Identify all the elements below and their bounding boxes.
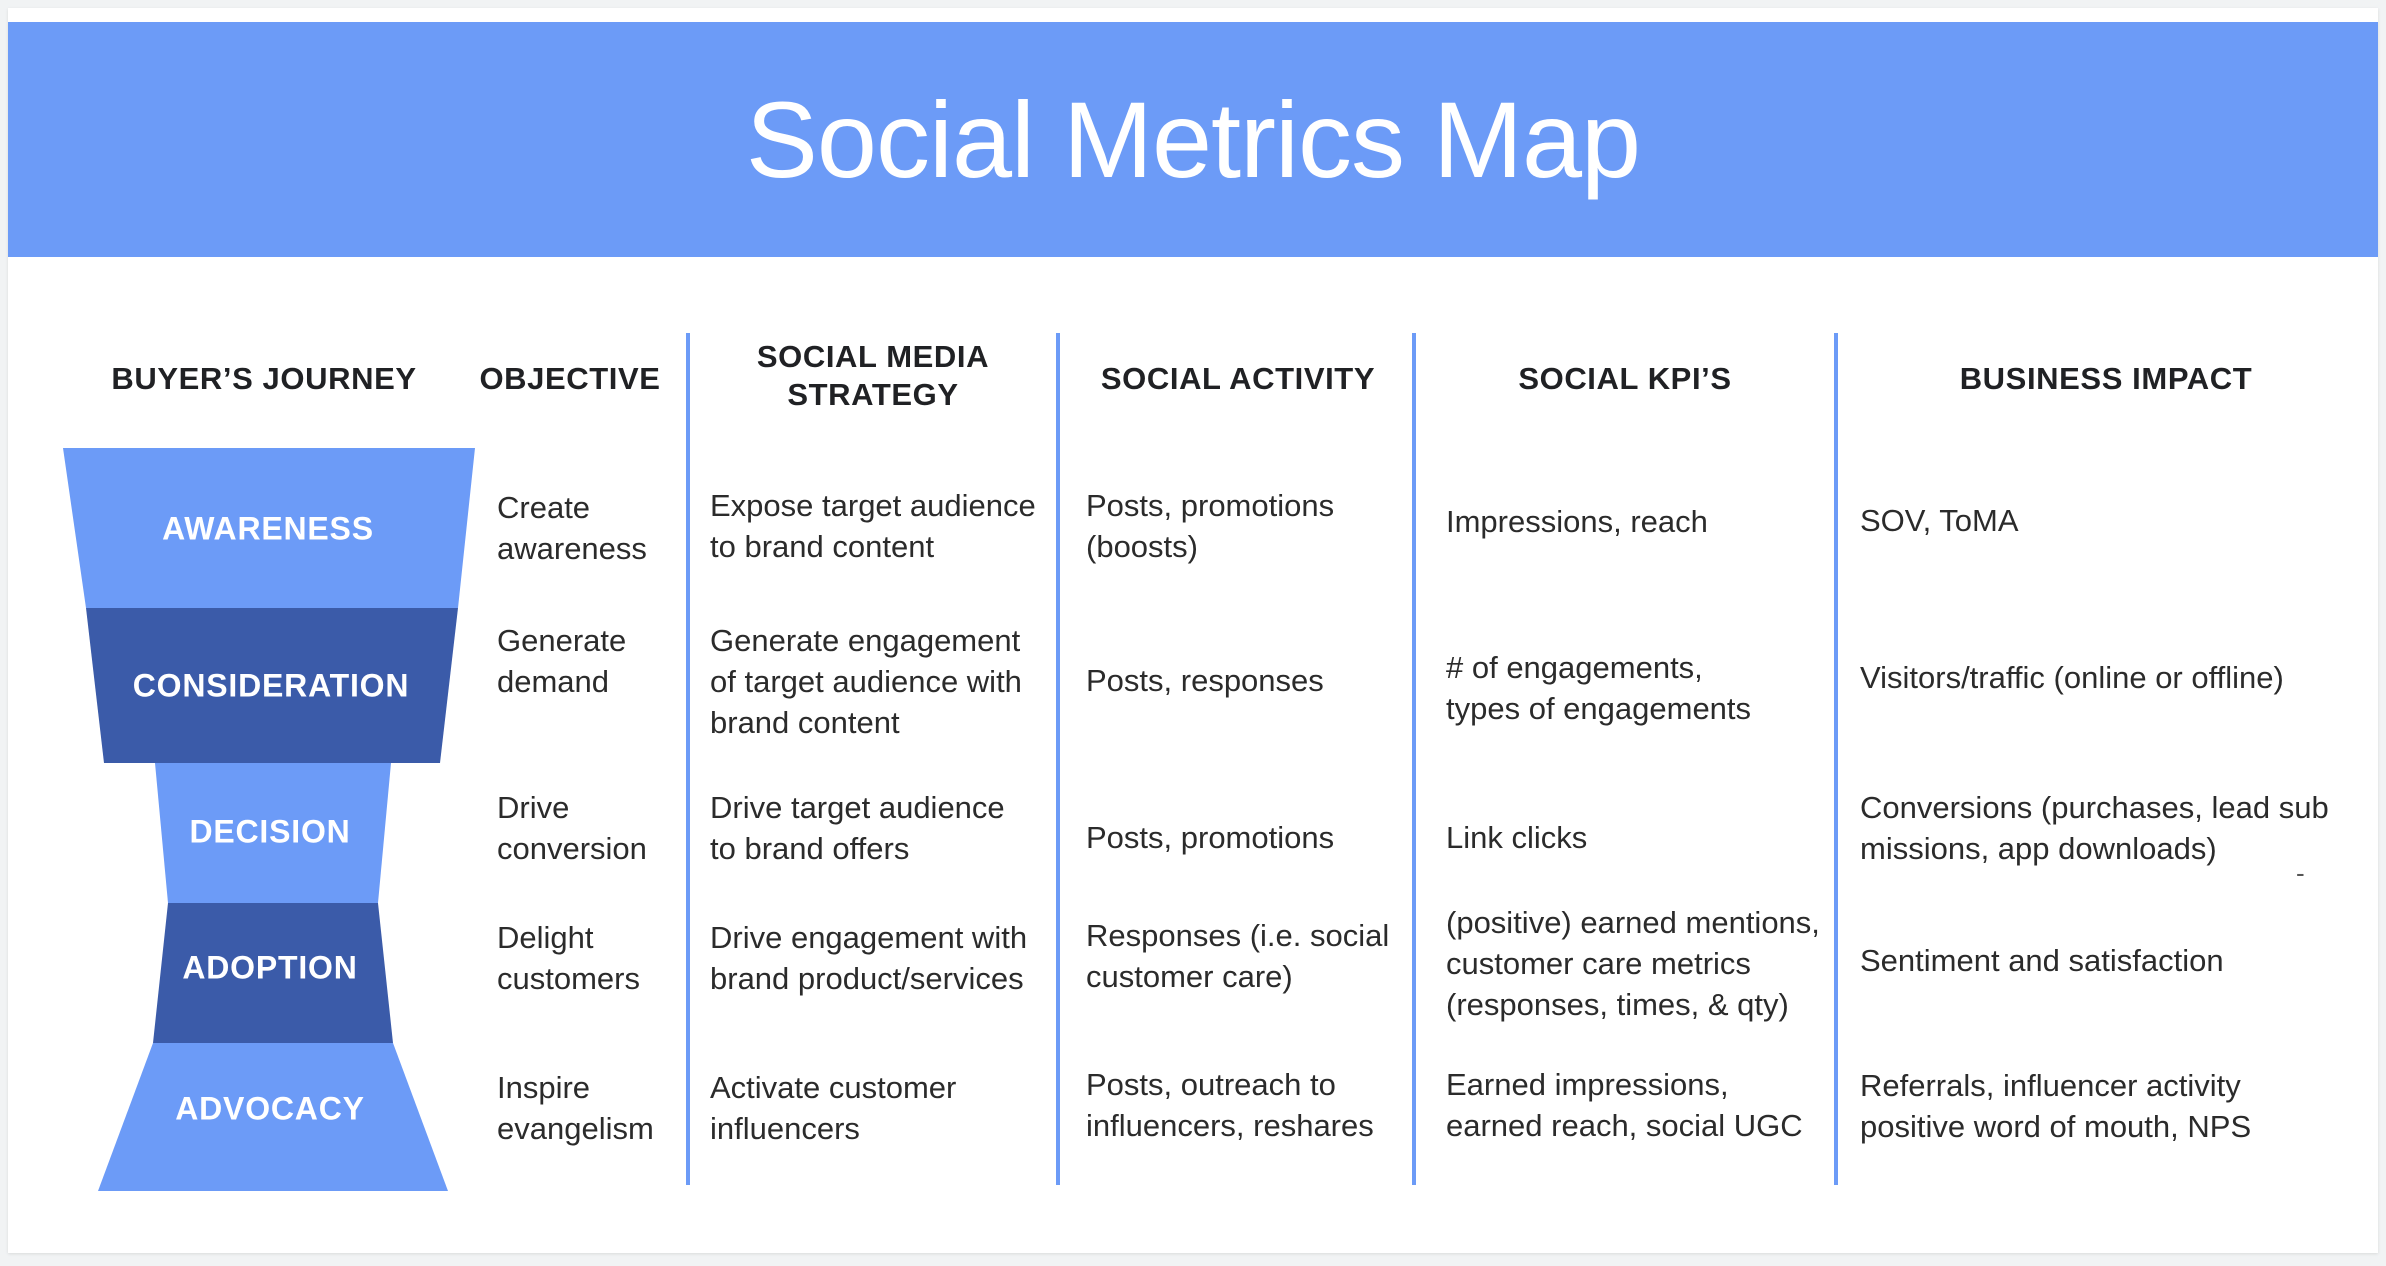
column-header-social-activity: SOCIAL ACTIVITY	[1068, 360, 1408, 398]
column-divider-1	[686, 333, 690, 1185]
objective-cell-decision: Driveconversion	[497, 788, 677, 870]
kpi-cell-adoption: (positive) earned mentions,customer care…	[1446, 903, 1846, 1026]
strategy-cell-decision: Drive target audienceto brand offers	[710, 788, 1050, 870]
column-header-social-kpis: SOCIAL KPI’S	[1424, 360, 1826, 398]
page-title: Social Metrics Map	[746, 86, 1640, 194]
impact-cell-adoption: Sentiment and satisfaction	[1860, 941, 2360, 982]
kpi-cell-awareness: Impressions, reach	[1446, 502, 1836, 543]
strategy-cell-consideration: Generate engagementof target audience wi…	[710, 621, 1050, 744]
column-header-strategy-line1: SOCIAL MEDIA	[698, 338, 1048, 376]
column-divider-2	[1056, 333, 1060, 1185]
activity-cell-decision: Posts, promotions	[1086, 818, 1406, 859]
funnel-stage-awareness	[63, 448, 475, 608]
impact-cell-awareness: SOV, ToMA	[1860, 501, 2360, 542]
kpi-cell-decision: Link clicks	[1446, 818, 1836, 859]
impact-cell-decision: Conversions (purchases, lead submissions…	[1860, 788, 2360, 870]
objective-cell-awareness: Createawareness	[497, 488, 677, 570]
buyer-journey-funnel	[8, 8, 568, 1258]
funnel-stage-consideration	[86, 608, 458, 763]
impact-cell-consideration: Visitors/traffic (online or offline)	[1860, 658, 2380, 699]
objective-cell-advocacy: Inspireevangelism	[497, 1068, 677, 1150]
strategy-cell-advocacy: Activate customerinfluencers	[710, 1068, 1050, 1150]
strategy-cell-awareness: Expose target audienceto brand content	[710, 486, 1050, 568]
funnel-stage-decision	[155, 763, 391, 903]
objective-cell-adoption: Delightcustomers	[497, 918, 677, 1000]
column-divider-4	[1834, 333, 1838, 1185]
column-header-social-media-strategy: SOCIAL MEDIA STRATEGY	[698, 338, 1048, 414]
kpi-cell-advocacy: Earned impressions,earned reach, social …	[1446, 1065, 1846, 1147]
strategy-cell-adoption: Drive engagement withbrand product/servi…	[710, 918, 1060, 1000]
objective-cell-consideration: Generatedemand	[497, 621, 677, 703]
column-divider-3	[1412, 333, 1416, 1185]
activity-cell-adoption: Responses (i.e. socialcustomer care)	[1086, 916, 1406, 998]
page-canvas: Social Metrics Map BUYER’S JOURNEY OBJEC…	[0, 0, 2386, 1266]
funnel-stage-adoption	[153, 903, 393, 1043]
stray-hyphen-mark: -	[2296, 860, 2305, 886]
slide-card: Social Metrics Map BUYER’S JOURNEY OBJEC…	[8, 8, 2378, 1253]
activity-cell-advocacy: Posts, outreach toinfluencers, reshares	[1086, 1065, 1406, 1147]
activity-cell-consideration: Posts, responses	[1086, 661, 1406, 702]
column-header-business-impact: BUSINESS IMPACT	[1846, 360, 2366, 398]
impact-cell-advocacy: Referrals, influencer activitypositive w…	[1860, 1066, 2360, 1148]
activity-cell-awareness: Posts, promotions(boosts)	[1086, 486, 1406, 568]
column-header-strategy-line2: STRATEGY	[698, 376, 1048, 414]
kpi-cell-consideration: # of engagements,types of engagements	[1446, 648, 1836, 730]
funnel-stage-advocacy	[98, 1043, 448, 1191]
